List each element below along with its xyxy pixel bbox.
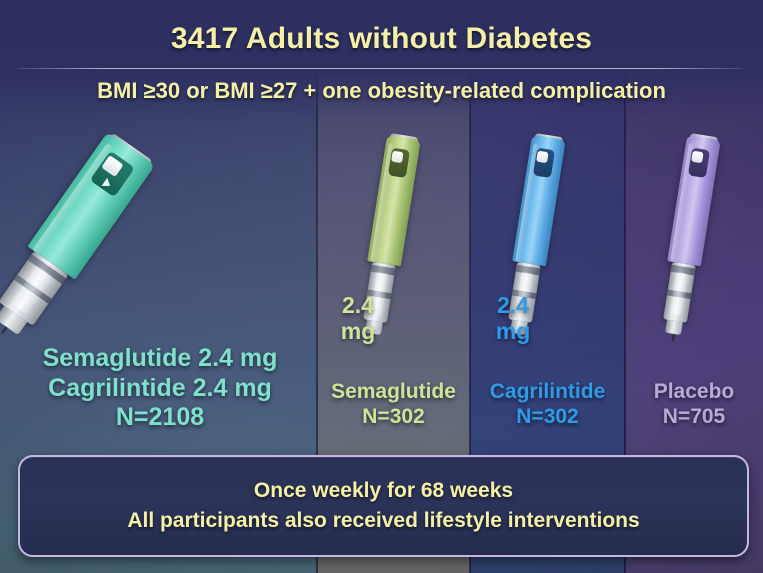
- pen-dose-window: [391, 151, 404, 164]
- dose-value: 2.4: [342, 292, 374, 318]
- cagrilintide-n-count: N=302: [470, 405, 625, 430]
- dose-unit: mg: [341, 318, 376, 344]
- combo-drug-line-2: Cagrilintide 2.4 mg: [10, 374, 310, 404]
- banner-line-2: All participants also received lifestyle…: [127, 509, 639, 533]
- combo-n-count: N=2108: [10, 403, 310, 433]
- column-label-combo: Semaglutide 2.4 mg Cagrilintide 2.4 mg N…: [10, 344, 310, 433]
- pen-needle: [671, 334, 674, 341]
- page-subtitle: BMI ≥30 or BMI ≥27 + one obesity-related…: [0, 78, 763, 104]
- dose-label-cagrilintide: 2.4 mg: [477, 293, 549, 345]
- pen-barrel-inner: [11, 265, 54, 314]
- semaglutide-drug-name: Semaglutide: [317, 380, 470, 405]
- pen-dose-window: [536, 151, 549, 164]
- combo-drug-line-1: Semaglutide 2.4 mg: [10, 344, 310, 374]
- pen-barrel: [663, 262, 696, 323]
- placebo-n-count: N=705: [625, 405, 763, 430]
- pen-dose-window: [691, 151, 704, 164]
- dose-value: 2.4: [497, 292, 529, 318]
- slide-canvas: 3417 Adults without Diabetes BMI ≥30 or …: [0, 0, 763, 573]
- pen-needle: [1, 327, 7, 335]
- column-label-cagrilintide: Cagrilintide N=302: [470, 380, 625, 430]
- column-label-placebo: Placebo N=705: [625, 380, 763, 430]
- dose-label-semaglutide: 2.4 mg: [322, 293, 394, 345]
- header-divider: [18, 68, 742, 69]
- cagrilintide-drug-name: Cagrilintide: [470, 380, 625, 405]
- protocol-banner: Once weekly for 68 weeks All participant…: [18, 455, 749, 557]
- pen-tip: [665, 320, 683, 335]
- placebo-drug-name: Placebo: [625, 380, 763, 405]
- column-label-semaglutide: Semaglutide N=302: [317, 380, 470, 430]
- slide-header: 3417 Adults without Diabetes BMI ≥30 or …: [0, 0, 763, 118]
- page-title: 3417 Adults without Diabetes: [0, 22, 763, 56]
- banner-line-1: Once weekly for 68 weeks: [254, 479, 513, 503]
- semaglutide-n-count: N=302: [317, 405, 470, 430]
- dose-unit: mg: [496, 318, 531, 344]
